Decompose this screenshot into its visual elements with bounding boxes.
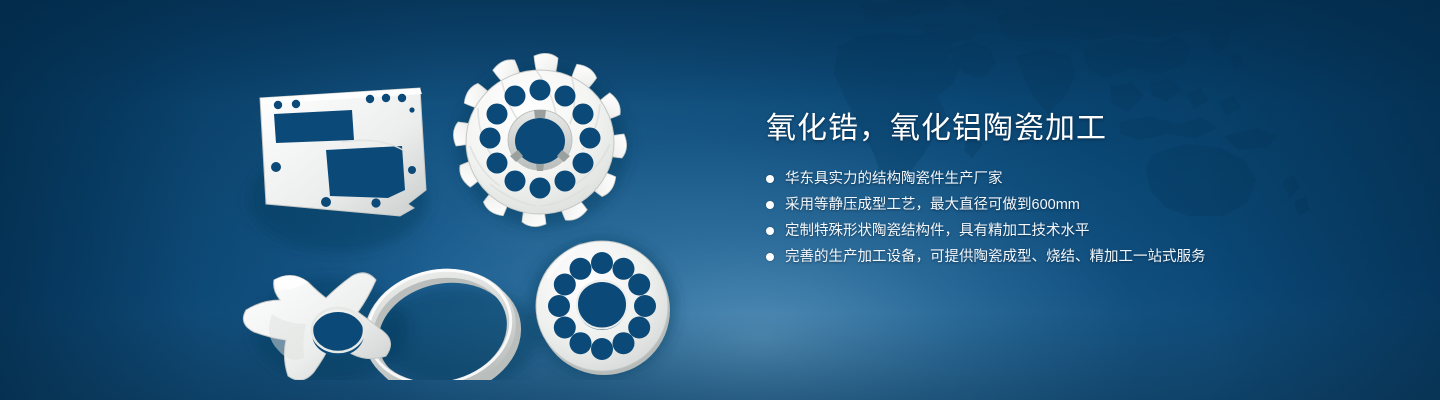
- banner-copy: 氧化锆，氧化铝陶瓷加工 华东具实力的结构陶瓷件生产厂家 采用等静压成型工艺，最大…: [766, 112, 1286, 272]
- list-item: 华东具实力的结构陶瓷件生产厂家: [766, 168, 1286, 190]
- page-title: 氧化锆，氧化铝陶瓷加工: [766, 112, 1286, 146]
- ceramic-plate-shape: [260, 88, 426, 216]
- bullet-dot-icon: [766, 201, 774, 209]
- bullet-dot-icon: [766, 227, 774, 235]
- feature-list: 华东具实力的结构陶瓷件生产厂家 采用等静压成型工艺，最大直径可做到600mm 定…: [766, 168, 1286, 268]
- list-item-label: 采用等静压成型工艺，最大直径可做到600mm: [785, 194, 1080, 216]
- list-item: 采用等静压成型工艺，最大直径可做到600mm: [766, 194, 1286, 216]
- bullet-dot-icon: [766, 253, 774, 261]
- list-item: 完善的生产加工设备，可提供陶瓷成型、烧结、精加工一站式服务: [766, 246, 1286, 268]
- list-item-label: 华东具实力的结构陶瓷件生产厂家: [785, 168, 1003, 190]
- ceramic-products-image: [230, 40, 700, 380]
- list-item-label: 定制特殊形状陶瓷结构件，具有精加工技术水平: [785, 220, 1090, 242]
- hero-banner: 氧化锆，氧化铝陶瓷加工 华东具实力的结构陶瓷件生产厂家 采用等静压成型工艺，最大…: [0, 0, 1440, 400]
- list-item-label: 完善的生产加工设备，可提供陶瓷成型、烧结、精加工一站式服务: [785, 246, 1206, 268]
- bullet-dot-icon: [766, 175, 774, 183]
- list-item: 定制特殊形状陶瓷结构件，具有精加工技术水平: [766, 220, 1286, 242]
